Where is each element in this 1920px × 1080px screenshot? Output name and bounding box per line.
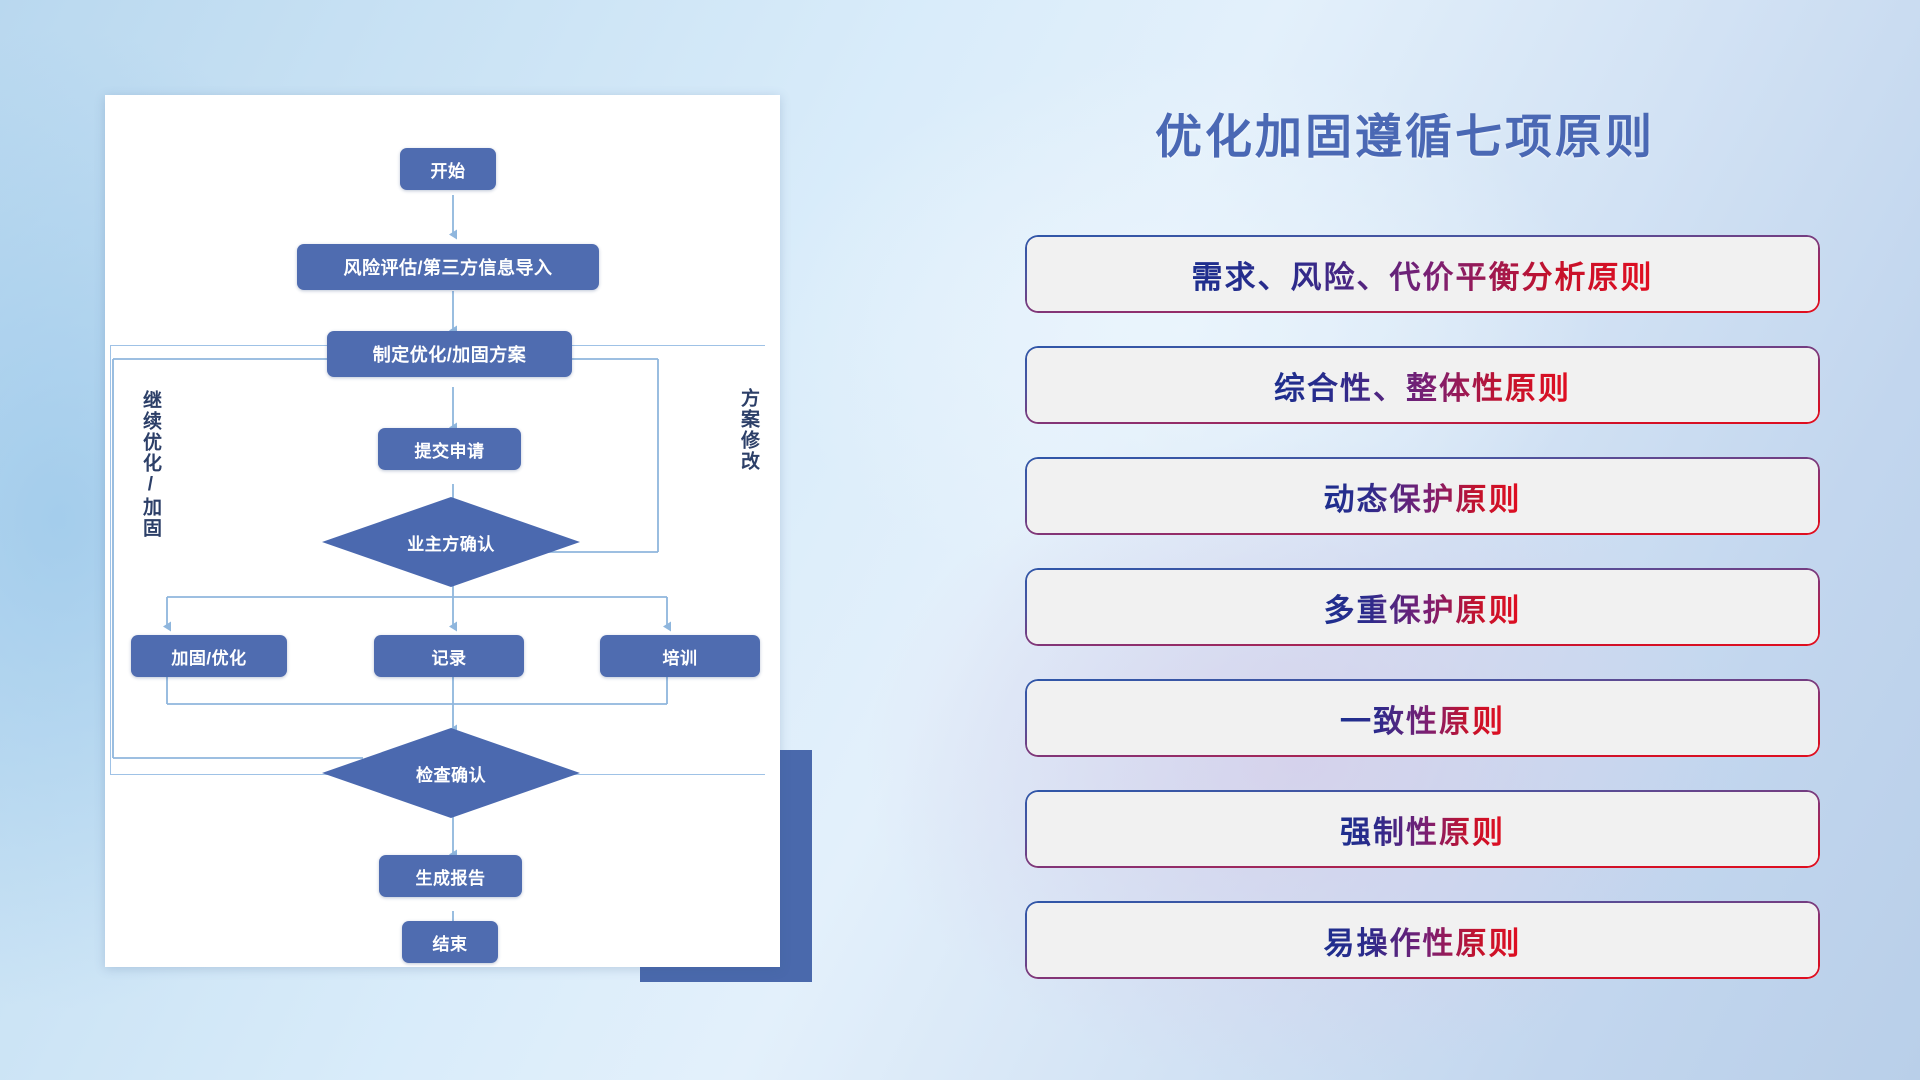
- principle-label: 多重保护原则: [1324, 585, 1522, 630]
- flow-node-label: 记录: [432, 644, 467, 669]
- principle-label: 需求、风险、代价平衡分析原则: [1192, 252, 1654, 297]
- principle-card[interactable]: 强制性原则: [1025, 790, 1820, 868]
- flow-node-label: 结束: [433, 930, 468, 955]
- principle-card[interactable]: 综合性、整体性原则: [1025, 346, 1820, 424]
- flow-decision-check-confirm[interactable]: 检查确认: [322, 728, 580, 818]
- page-title: 优化加固遵循七项原则: [1155, 98, 1655, 167]
- flow-node-submit[interactable]: 提交申请: [378, 428, 521, 470]
- principle-label: 动态保护原则: [1324, 474, 1522, 519]
- flow-node-report[interactable]: 生成报告: [379, 855, 522, 897]
- flow-node-end[interactable]: 结束: [402, 921, 498, 963]
- flow-edge-label-right-loop: 方案修改: [738, 388, 758, 472]
- diamond-shape: [322, 497, 580, 587]
- slide-canvas: 开始 风险评估/第三方信息导入 制定优化/加固方案 提交申请 业主方确认 加固/…: [0, 0, 1920, 1080]
- principle-label: 综合性、整体性原则: [1274, 363, 1571, 408]
- flow-node-label: 生成报告: [416, 864, 486, 889]
- principle-card-inner: 强制性原则: [1027, 792, 1818, 866]
- principle-card-inner: 综合性、整体性原则: [1027, 348, 1818, 422]
- flow-node-label: 制定优化/加固方案: [373, 341, 527, 367]
- principle-card-inner: 一致性原则: [1027, 681, 1818, 755]
- flow-node-label: 培训: [663, 644, 698, 669]
- flow-node-plan[interactable]: 制定优化/加固方案: [327, 331, 572, 377]
- principle-card[interactable]: 一致性原则: [1025, 679, 1820, 757]
- flow-node-label: 加固/优化: [171, 644, 246, 669]
- principle-label: 强制性原则: [1340, 807, 1505, 852]
- flow-node-label: 风险评估/第三方信息导入: [344, 254, 553, 280]
- principle-label: 一致性原则: [1340, 696, 1505, 741]
- diamond-shape: [322, 728, 580, 818]
- principle-card-inner: 多重保护原则: [1027, 570, 1818, 644]
- principle-card[interactable]: 需求、风险、代价平衡分析原则: [1025, 235, 1820, 313]
- principle-card-inner: 易操作性原则: [1027, 903, 1818, 977]
- flow-node-record[interactable]: 记录: [374, 635, 524, 677]
- flow-decision-owner-confirm[interactable]: 业主方确认: [322, 497, 580, 587]
- flow-node-risk-assessment[interactable]: 风险评估/第三方信息导入: [297, 244, 599, 290]
- principle-card-inner: 需求、风险、代价平衡分析原则: [1027, 237, 1818, 311]
- principle-label: 易操作性原则: [1324, 918, 1522, 963]
- flow-node-reinforce[interactable]: 加固/优化: [131, 635, 287, 677]
- flow-node-label: 开始: [431, 157, 466, 182]
- flow-node-training[interactable]: 培训: [600, 635, 760, 677]
- principle-card-inner: 动态保护原则: [1027, 459, 1818, 533]
- flow-node-label: 提交申请: [415, 437, 485, 462]
- principle-card[interactable]: 易操作性原则: [1025, 901, 1820, 979]
- principles-panel: 优化加固遵循七项原则 需求、风险、代价平衡分析原则 综合性、整体性原则 动态保护…: [1010, 90, 1840, 1020]
- flow-node-start[interactable]: 开始: [400, 148, 496, 190]
- flow-edge-label-left-loop: 继续优化/加固: [140, 390, 160, 539]
- principle-card[interactable]: 动态保护原则: [1025, 457, 1820, 535]
- principle-card[interactable]: 多重保护原则: [1025, 568, 1820, 646]
